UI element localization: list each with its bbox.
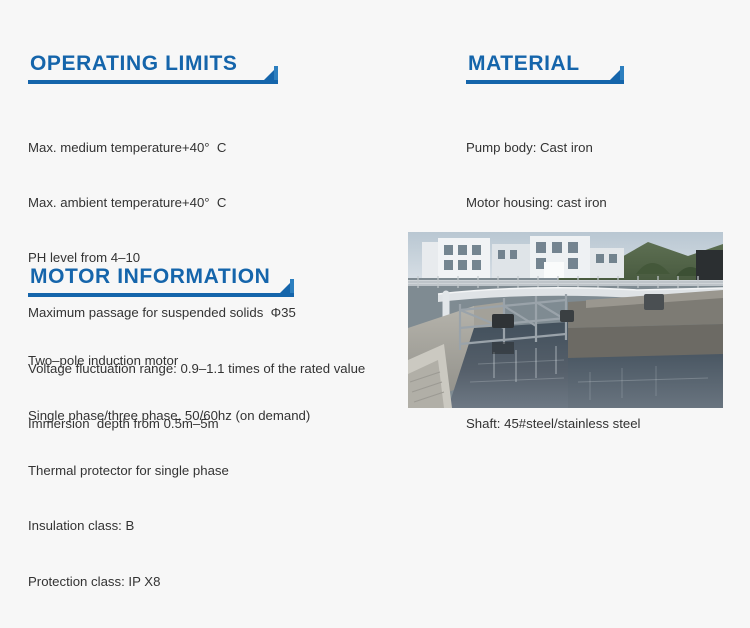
list-item: Two–pole induction motor <box>28 352 294 370</box>
list-item: Insulation class: B <box>28 517 294 535</box>
list-item: Motor housing: cast iron <box>466 194 624 212</box>
section-title: MATERIAL <box>466 52 624 76</box>
section-motor-information: MOTOR INFORMATION Two–pole induction mot… <box>28 265 294 628</box>
list-item: Max. medium temperature+40° C <box>28 139 278 157</box>
list-item: Pump body: Cast iron <box>466 139 624 157</box>
heading-underline <box>28 80 278 84</box>
page-root: OPERATING LIMITS Max. medium temperature… <box>0 0 750 453</box>
motor-information-list: Two–pole induction motor Single phase/th… <box>28 315 294 628</box>
section-heading: OPERATING LIMITS <box>28 52 278 84</box>
wastewater-treatment-plant-photo <box>408 232 723 408</box>
heading-underline <box>466 80 624 84</box>
list-item: Shaft: 45#steel/stainless steel <box>466 415 624 433</box>
section-heading: MOTOR INFORMATION <box>28 265 294 297</box>
section-title: OPERATING LIMITS <box>28 52 278 76</box>
list-item: Max. ambient temperature+40° C <box>28 194 278 212</box>
list-item: Protection class: IP X8 <box>28 573 294 591</box>
section-heading: MATERIAL <box>466 52 624 84</box>
list-item: Single phase/three phase, 50/60hz (on de… <box>28 407 294 425</box>
list-item: Thermal protector for single phase <box>28 462 294 480</box>
section-title: MOTOR INFORMATION <box>28 265 294 289</box>
heading-underline <box>28 293 294 297</box>
